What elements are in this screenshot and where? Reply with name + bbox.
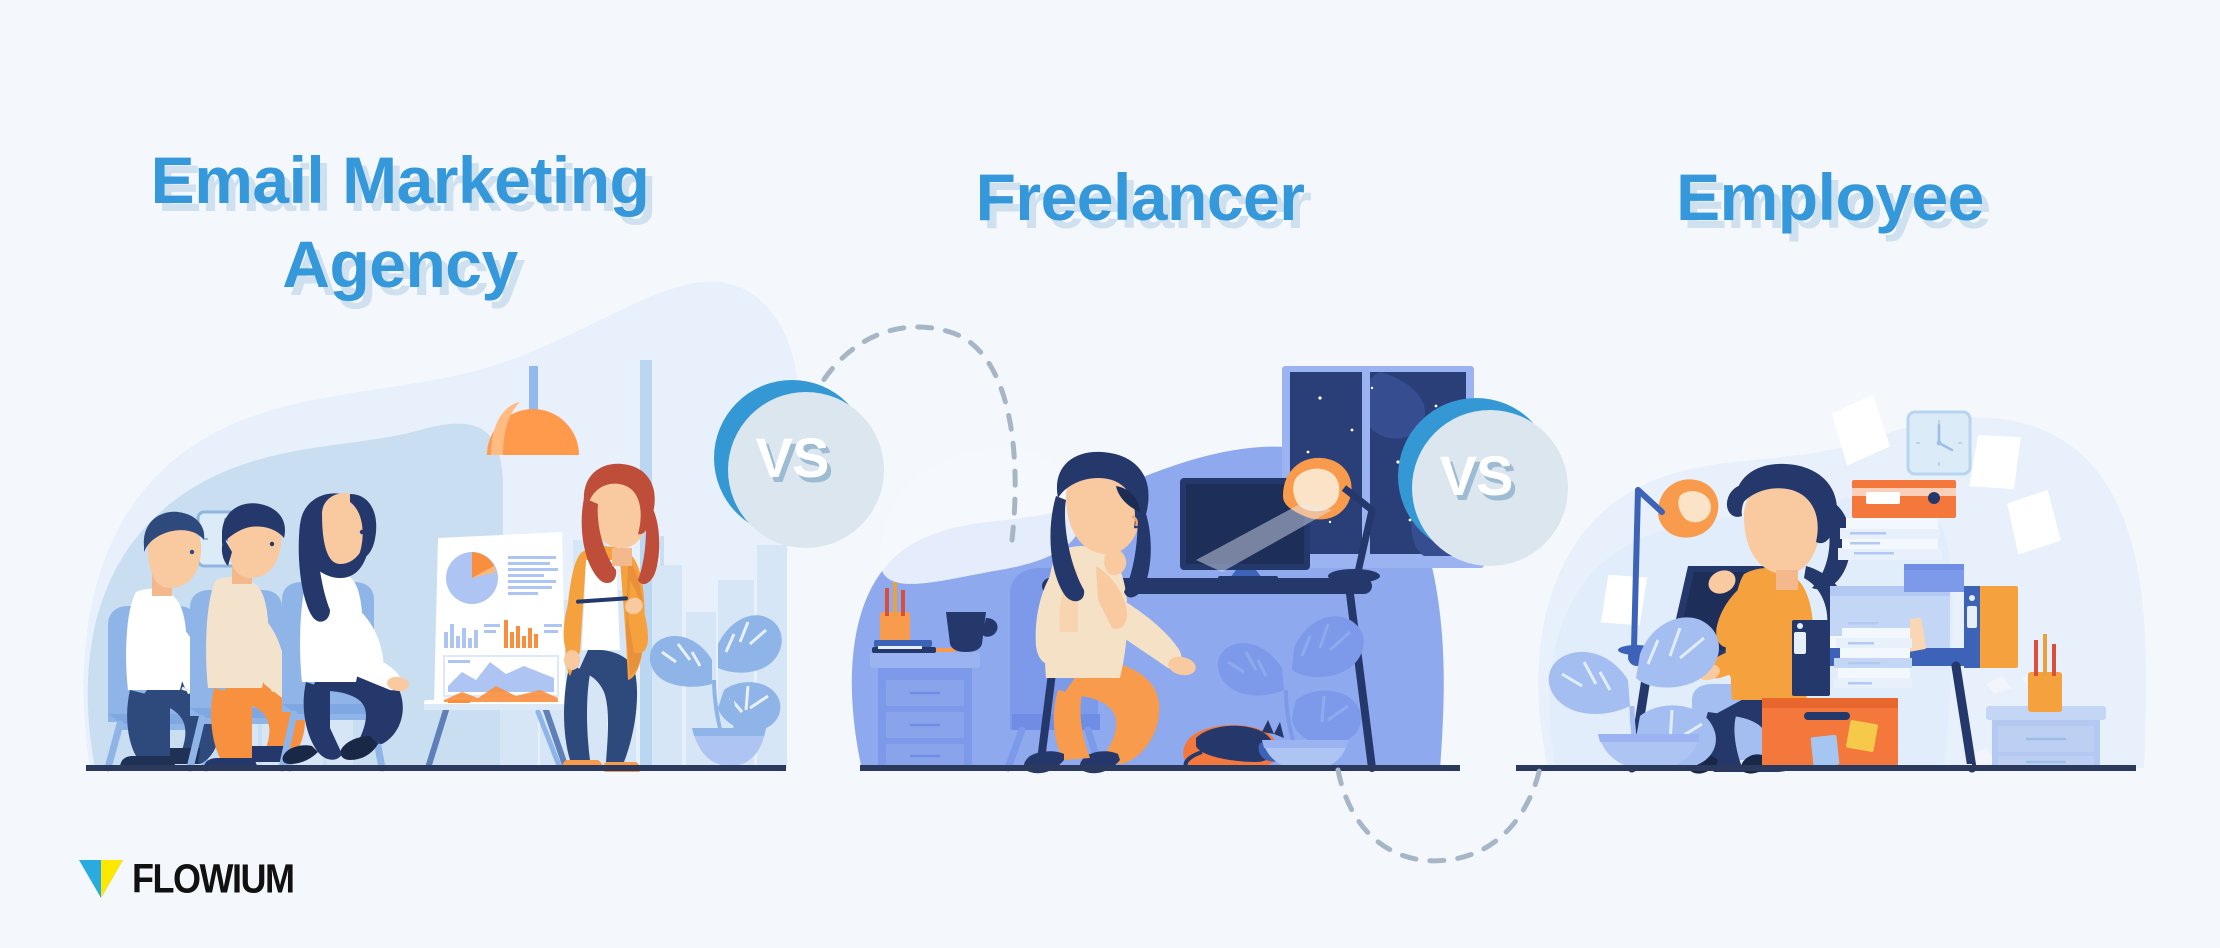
title-employee: Employee: [1480, 155, 2180, 239]
flowium-triangle-icon: [78, 858, 124, 900]
vs-badge-freelancer-employee: VS: [1398, 398, 1554, 554]
vs-label: VS: [1440, 448, 1513, 504]
flowium-logo[interactable]: FLOWIUM: [78, 858, 293, 900]
flowium-wordmark: FLOWIUM: [132, 855, 293, 902]
ground-line-freelancer: [860, 765, 1460, 771]
ground-line-agency: [86, 765, 786, 771]
ground-line-employee: [1516, 765, 2136, 771]
title-email-marketing-agency: Email Marketing Agency: [90, 138, 710, 306]
vs-badge-agency-freelancer: VS: [714, 380, 870, 536]
title-freelancer: Freelancer: [800, 155, 1480, 239]
dashed-arc-freelancer-to-employee: [1338, 768, 1540, 861]
wall-clock-employee: [1908, 412, 1970, 474]
email-marketing-agency-scene: [83, 282, 798, 772]
employee-scene: [1516, 394, 2146, 775]
freelancer-scene: [852, 366, 1484, 773]
vs-label: VS: [756, 430, 829, 486]
infographic-canvas: Email Marketing Agency Freelancer Employ…: [0, 0, 2220, 948]
